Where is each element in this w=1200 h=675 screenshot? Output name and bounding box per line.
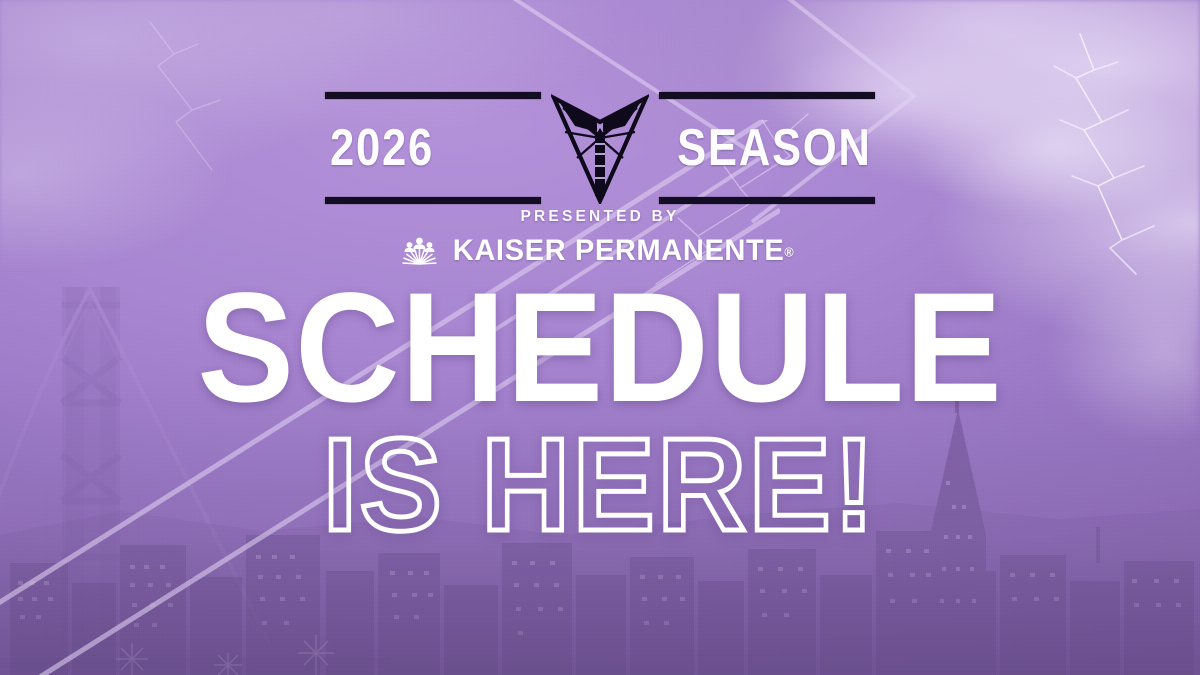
season-block: SEASON [659,92,875,204]
year-block: 2026 [325,92,541,204]
headline-block: SCHEDULE IS HERE! [0,288,1200,537]
season-lockup: 2026 [325,92,875,204]
presented-by-block: PRESENTED BY [400,208,799,268]
rule-bottom-right [659,197,875,204]
season-year: 2026 [325,99,506,197]
bay-fc-chevron-crest-icon [547,92,653,204]
headline-line-1: SCHEDULE [197,288,1002,410]
rule-top-left [325,92,541,99]
registered-trademark: ® [784,245,794,260]
season-word: SEASON [694,99,875,197]
promo-graphic-canvas: 2026 [0,0,1200,675]
rule-bottom-left [325,197,541,204]
headline-line-2: IS HERE! [323,432,877,538]
presented-by-label: PRESENTED BY [521,208,680,226]
rule-top-right [659,92,875,99]
